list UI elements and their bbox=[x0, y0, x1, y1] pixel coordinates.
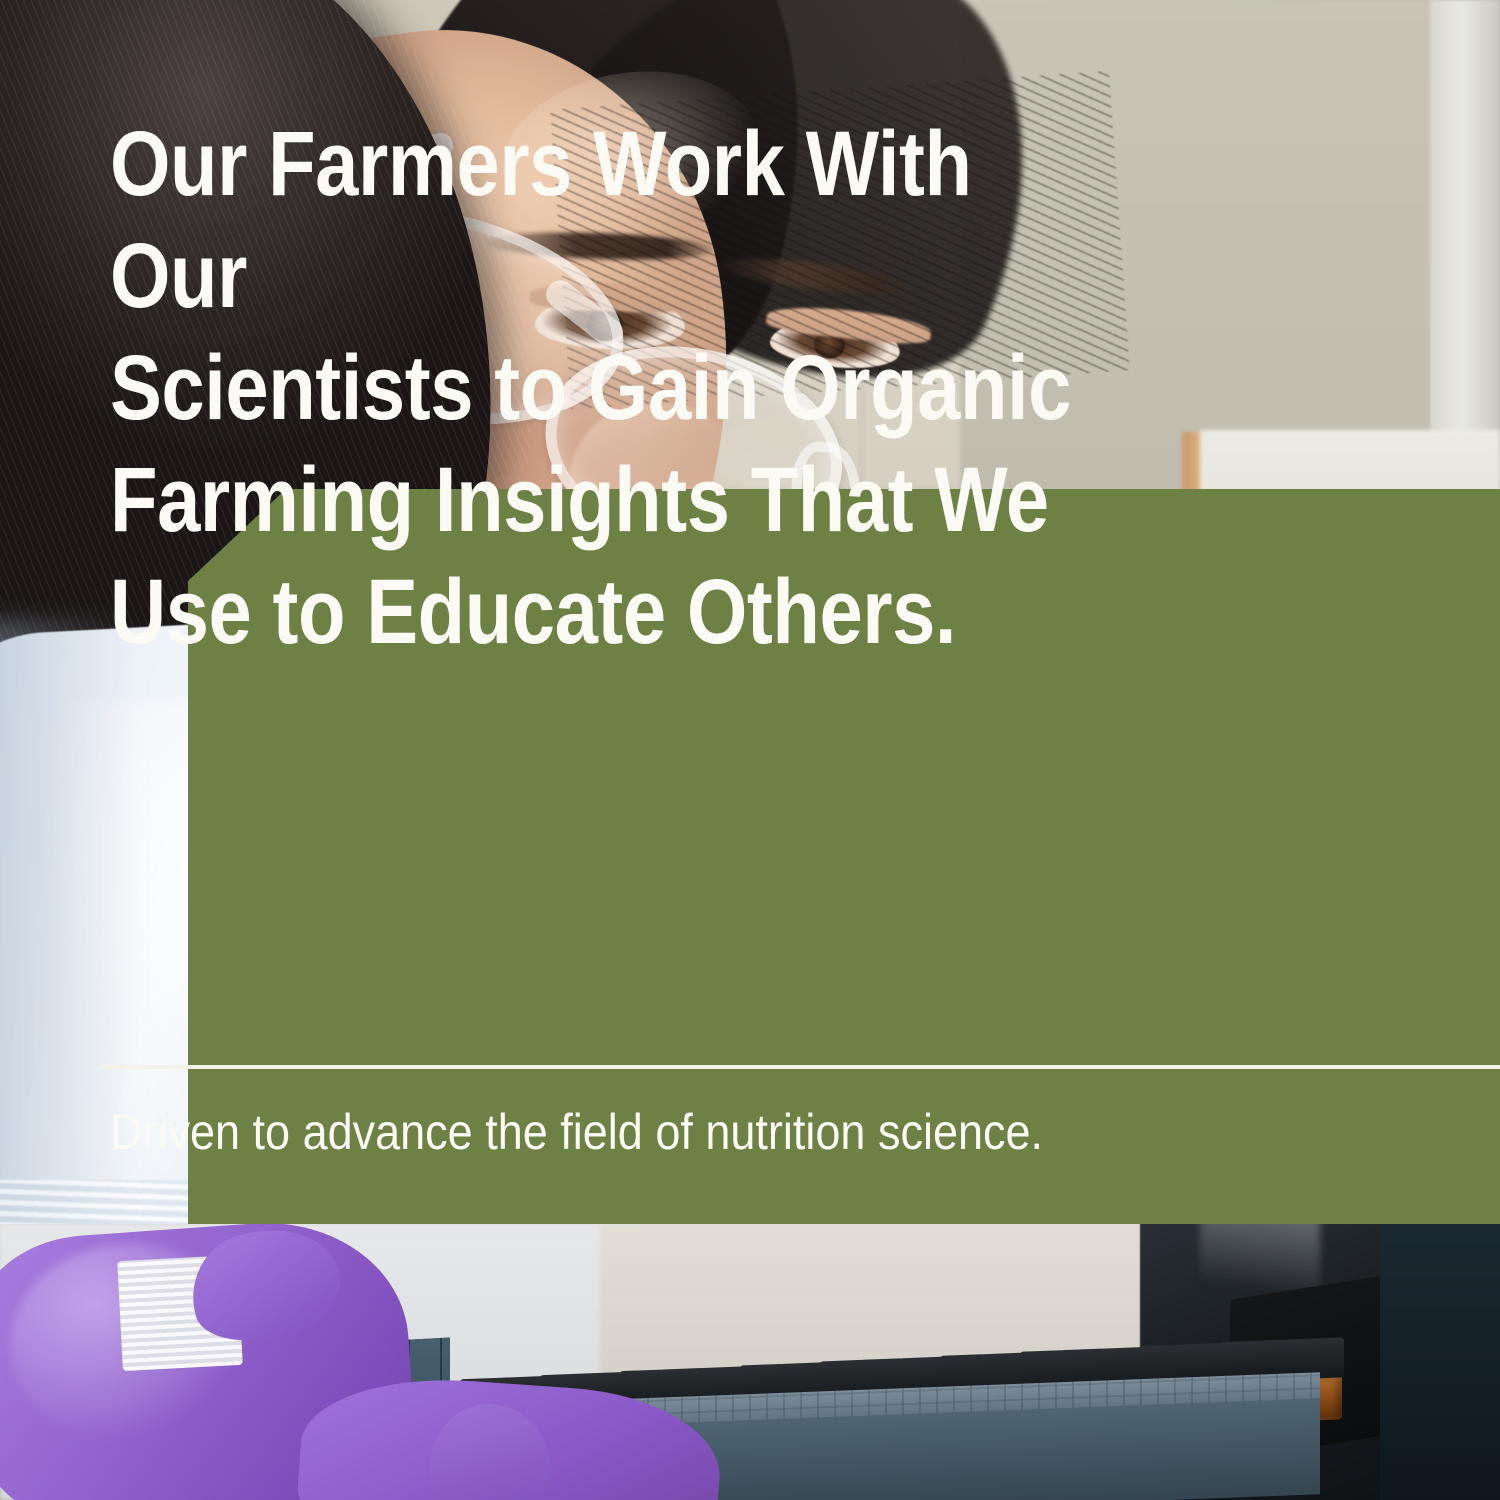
headline: Our Farmers Work With Our Scientists to … bbox=[110, 108, 1124, 668]
divider-rule bbox=[100, 1065, 1500, 1069]
subtitle: Driven to advance the field of nutrition… bbox=[110, 1103, 1043, 1161]
instrument-side-panel bbox=[1380, 1224, 1500, 1500]
banner-stage: Our Farmers Work With Our Scientists to … bbox=[0, 0, 1500, 1500]
lower-lab-scene bbox=[0, 1224, 1500, 1500]
